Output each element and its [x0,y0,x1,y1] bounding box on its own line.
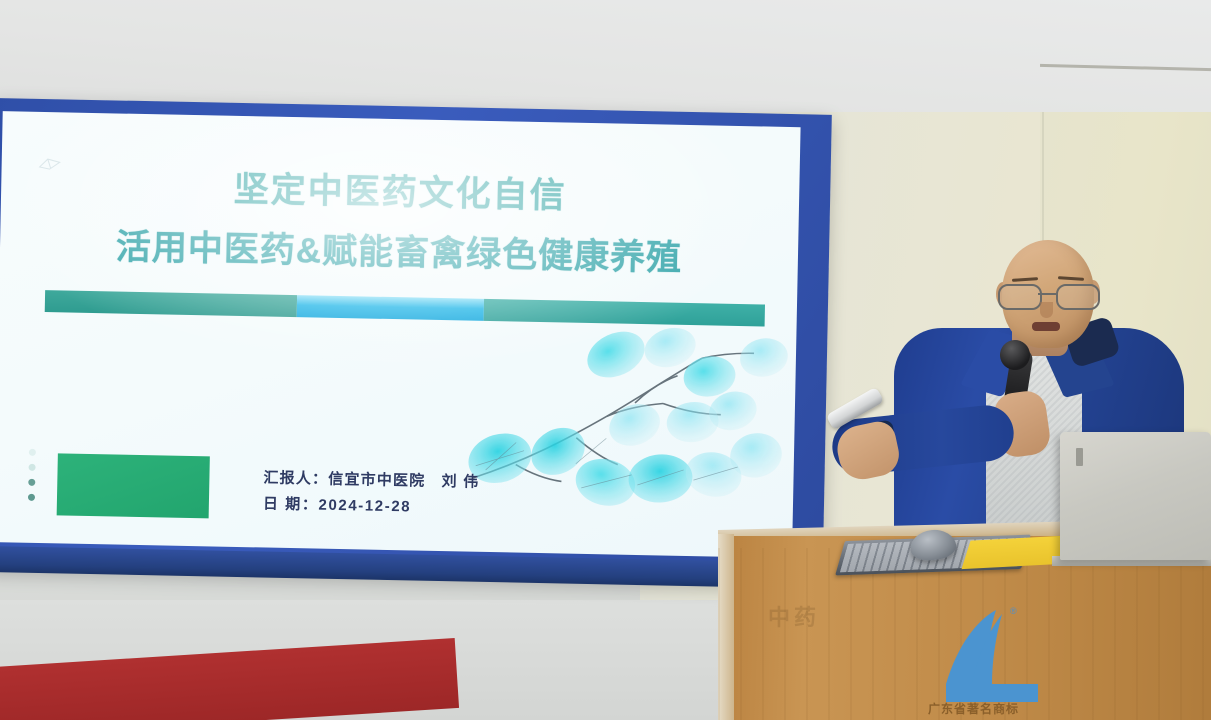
trademark-symbol: ® [1010,606,1017,616]
accent-bar-segment-teal-left [45,290,297,317]
presenter-name-line: 汇报人：信宜市中医院 刘 伟 [263,465,479,496]
eucalyptus-leaf-illustration [455,309,789,516]
accent-bar-segment-cyan [297,295,485,321]
slide-dot-decoration [28,449,39,501]
brand-logo-caption: 广东省著名商标 [928,700,1078,717]
slide-green-block [57,453,210,518]
projection-screen: 坚定中医药文化自信 活用中医药&赋能畜禽绿色健康养殖 [0,98,832,585]
ceiling [0,0,1211,112]
slide-content: 坚定中医药文化自信 活用中医药&赋能畜禽绿色健康养殖 [0,111,801,558]
presenter-mouth [1032,322,1060,331]
laptop-brand-badge [1076,448,1083,466]
slide-title-block: 坚定中医药文化自信 活用中医药&赋能畜禽绿色健康养殖 [0,163,800,282]
slide-title-line1: 坚定中医药文化自信 [1,163,800,223]
presenter-nose [1040,302,1053,318]
slide-title-line2: 活用中医药&赋能畜禽绿色健康养殖 [0,223,798,283]
laptop-icon [1060,432,1211,560]
podium-left-edge [718,534,734,720]
podium-ghost-text: 中药 [768,600,820,632]
screenshot-root: 坚定中医药文化自信 活用中医药&赋能畜禽绿色健康养殖 [0,0,1211,720]
presentation-date-line: 日 期：2024-12-28 [263,491,479,522]
slide-presenter-info: 汇报人：信宜市中医院 刘 伟 日 期：2024-12-28 [263,465,480,522]
